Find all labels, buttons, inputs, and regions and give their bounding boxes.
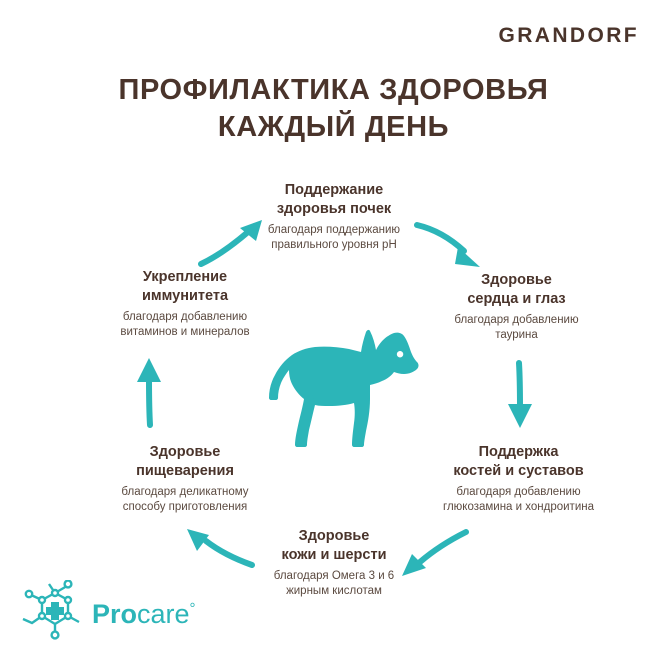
cycle-node-joints-subtitle: благодаря добавлению глюкозамина и хондр… [397, 485, 640, 515]
procare-word-pro: Pro [92, 599, 137, 629]
brand-logo-grandorf: GRANDORF [498, 24, 639, 48]
procare-logo: Procare° [22, 580, 212, 642]
cycle-arrow-left-icon [120, 352, 178, 430]
cycle-arrow-bottom-right-icon [394, 524, 472, 586]
cycle-node-heart: Здоровье сердца и глаз благодаря добавле… [404, 271, 629, 343]
infographic-page: GRANDORF ПРОФИЛАКТИКА ЗДОРОВЬЯ КАЖДЫЙ ДЕ… [0, 0, 667, 667]
procare-word-care: care [137, 599, 190, 629]
procare-degree-mark: ° [190, 600, 196, 617]
cycle-node-heart-subtitle: благодаря добавлению таурина [404, 313, 629, 343]
page-title-line-1: ПРОФИЛАКТИКА ЗДОРОВЬЯ [0, 72, 667, 109]
cycle-node-immunity-title: Укрепление иммунитета [72, 268, 298, 306]
cycle-node-digestion-subtitle: благодаря деликатному способу приготовле… [72, 485, 298, 515]
cycle-node-heart-title: Здоровье сердца и глаз [404, 271, 629, 309]
cycle-node-joints-title: Поддержка костей и суставов [397, 443, 640, 481]
cycle-arrow-right-icon [492, 358, 548, 432]
cycle-arrow-bottom-left-icon [179, 523, 257, 585]
dog-silhouette-icon [254, 327, 420, 447]
page-title-line-2: КАЖДЫЙ ДЕНЬ [0, 109, 667, 146]
molecule-cross-icon [22, 580, 88, 642]
cycle-node-digestion: Здоровье пищеварения благодаря деликатно… [72, 443, 298, 515]
cycle-node-joints: Поддержка костей и суставов благодаря до… [397, 443, 640, 515]
procare-wordmark: Procare° [92, 593, 196, 630]
cycle-arrow-top-right-icon [414, 213, 488, 275]
page-title: ПРОФИЛАКТИКА ЗДОРОВЬЯ КАЖДЫЙ ДЕНЬ [0, 72, 667, 146]
cycle-node-digestion-title: Здоровье пищеварения [72, 443, 298, 481]
cycle-arrow-top-left-icon [196, 214, 268, 272]
